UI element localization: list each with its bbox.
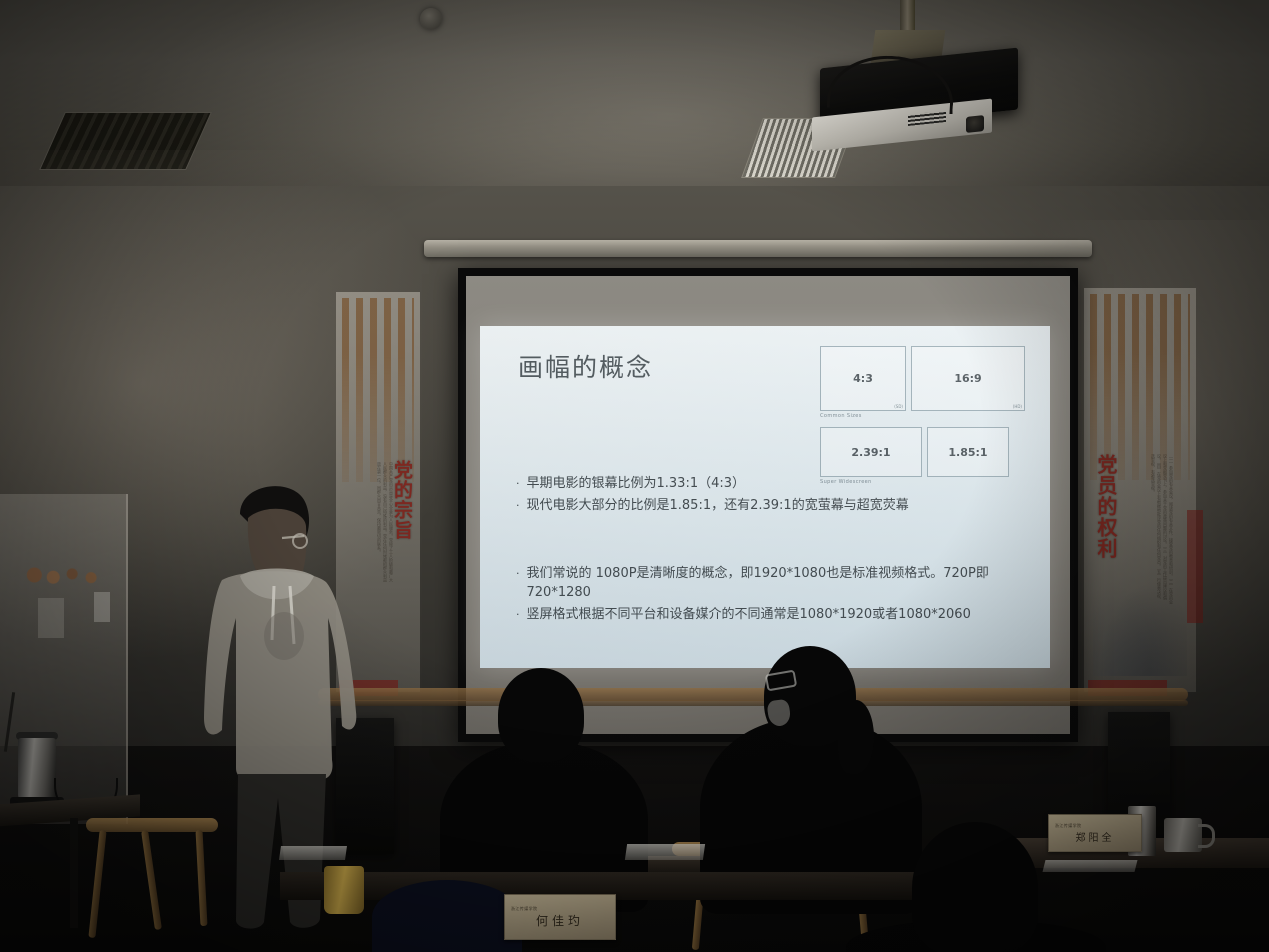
audience-member-foreground-right-head	[912, 822, 1038, 952]
name-placard-left: 浙江传媒学院 何佳玓	[504, 894, 616, 940]
paper-sheet	[625, 844, 705, 860]
presenter-hoodie	[204, 569, 356, 781]
electric-kettle	[18, 738, 56, 800]
slide-title: 画幅的概念	[518, 348, 653, 384]
aspect-box-2-39-1: 2.39:1	[820, 427, 922, 477]
poster-ink-mountain-art	[1093, 571, 1187, 676]
bullet-text: 早期电影的银幕比例为1.33:1（4:3）	[527, 474, 746, 493]
paper-sheet	[1043, 860, 1138, 872]
aspect-ratio-row-widescreen: 2.39:1 1.85:1	[820, 427, 1026, 477]
name-placard-left-name: 何佳玓	[536, 912, 584, 929]
metal-mug	[1164, 818, 1202, 852]
chair-leg	[195, 830, 207, 926]
aspect-box-1-85-1: 1.85:1	[927, 427, 1009, 477]
bullet-item: · 我们常说的 1080P是清晰度的概念，即1920*1080也是标准视频格式。…	[516, 564, 1017, 602]
poster-bar-pattern	[1090, 294, 1190, 480]
ceiling-fitting-icon	[420, 8, 442, 30]
bullet-marker: ·	[516, 474, 520, 493]
metal-mug-handle	[1198, 824, 1215, 848]
slide-bullet-group-2: · 我们常说的 1080P是清晰度的概念，即1920*1080也是标准视频格式。…	[516, 564, 1017, 627]
bullet-item: · 竖屏格式根据不同平台和设备媒介的不同通常是1080*1920或者1080*2…	[516, 605, 1017, 624]
bullet-text: 我们常说的 1080P是清晰度的概念，即1920*1080也是标准视频格式。72…	[527, 564, 1017, 602]
chair-leg	[141, 830, 162, 930]
aspect-box-4-3-label: 4:3	[853, 372, 873, 385]
aspect-ratio-diagram: 4:3 (SD) 16:9 (HD) Common Sizes 2.39:1	[820, 346, 1026, 493]
side-table-leg	[70, 818, 78, 928]
aspect-box-16-9-tag: (HD)	[1013, 404, 1022, 409]
chair-leg	[88, 830, 106, 938]
bullet-marker: ·	[516, 564, 520, 602]
aspect-box-2-39-1-label: 2.39:1	[851, 446, 890, 459]
aspect-box-16-9: 16:9 (HD)	[911, 346, 1025, 411]
bullet-marker: ·	[516, 496, 520, 515]
wishbone-chair-left	[86, 818, 218, 938]
bullet-marker: ·	[516, 605, 520, 624]
audience-member-foreground-left-head	[372, 880, 522, 952]
aspect-box-16-9-label: 16:9	[954, 372, 981, 385]
bullet-text: 竖屏格式根据不同平台和设备媒介的不同通常是1080*1920或者1080*206…	[527, 605, 971, 624]
aspect-box-4-3: 4:3 (SD)	[820, 346, 906, 411]
projection-screen-surface: 画幅的概念 4:3 (SD) 16:9 (HD) Common Sizes	[466, 276, 1070, 734]
aspect-box-1-85-1-label: 1.85:1	[948, 446, 987, 459]
name-placard-right: 浙江传媒学院 郑阳全	[1048, 814, 1142, 852]
classroom-scene: 党的宗旨 中国共产党的宗旨是全心全意为人民服务。党除了工人阶级和最广大人民群众的…	[0, 0, 1269, 952]
presentation-slide: 画幅的概念 4:3 (SD) 16:9 (HD) Common Sizes	[480, 326, 1050, 668]
poster-right-title: 党员的权利	[1092, 454, 1121, 559]
name-placard-right-name: 郑阳全	[1076, 829, 1115, 844]
poster-right-red-stripe	[1187, 510, 1203, 623]
audience-member-front-left-head	[498, 668, 584, 762]
whiteboard-note	[38, 598, 64, 638]
name-placard-left-sub: 浙江传媒学院	[511, 906, 537, 912]
projector-lens-icon	[966, 115, 984, 133]
whiteboard-magnets	[24, 564, 110, 586]
wall-poster-right: 党员的权利 （一）参加党的有关会议，阅读党的有关文件，接受党的教育和培训。（二）…	[1084, 288, 1196, 692]
wall-rail-shadow	[318, 700, 1188, 706]
bullet-text: 现代电影大部分的比例是1.85:1，还有2.39:1的宽萤幕与超宽荧幕	[527, 496, 909, 515]
aspect-box-4-3-tag: (SD)	[894, 404, 903, 409]
whiteboard-panel	[94, 592, 110, 622]
projection-screen-roller	[424, 240, 1092, 257]
yellow-cup	[324, 866, 364, 914]
aspect-caption-common: Common Sizes	[820, 413, 1026, 419]
aspect-ratio-row-common: 4:3 (SD) 16:9 (HD)	[820, 346, 1026, 411]
paper-sheet	[279, 846, 347, 860]
poster-bar-pattern	[342, 298, 414, 482]
bullet-item: · 早期电影的银幕比例为1.33:1（4:3）	[516, 474, 909, 493]
bullet-item: · 现代电影大部分的比例是1.85:1，还有2.39:1的宽萤幕与超宽荧幕	[516, 496, 909, 515]
audience-member-front-right-hair	[838, 700, 874, 774]
slide-bullet-group-1: · 早期电影的银幕比例为1.33:1（4:3） · 现代电影大部分的比例是1.8…	[516, 474, 909, 518]
